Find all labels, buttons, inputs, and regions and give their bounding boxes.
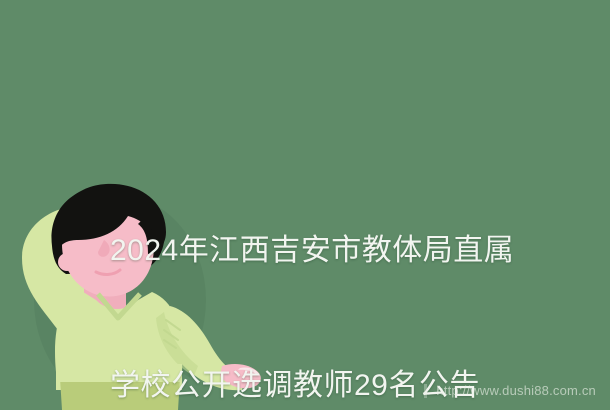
page-title-line-1: 2024年江西吉安市教体局直属 bbox=[110, 228, 540, 273]
announcement-banner: 2024年江西吉安市教体局直属 学校公开选调教师29名公告 http://www… bbox=[0, 0, 610, 410]
raised-arm-shade bbox=[86, 262, 108, 300]
ear bbox=[58, 253, 76, 271]
watermark-divider-icon bbox=[424, 384, 427, 398]
nose bbox=[98, 240, 110, 257]
watermark-url: http://www.dushi88.com.cn bbox=[436, 383, 596, 398]
raised-arm bbox=[22, 206, 124, 330]
page-title: 2024年江西吉安市教体局直属 学校公开选调教师29名公告 bbox=[110, 138, 540, 410]
watermark: http://www.dushi88.com.cn bbox=[424, 383, 596, 398]
